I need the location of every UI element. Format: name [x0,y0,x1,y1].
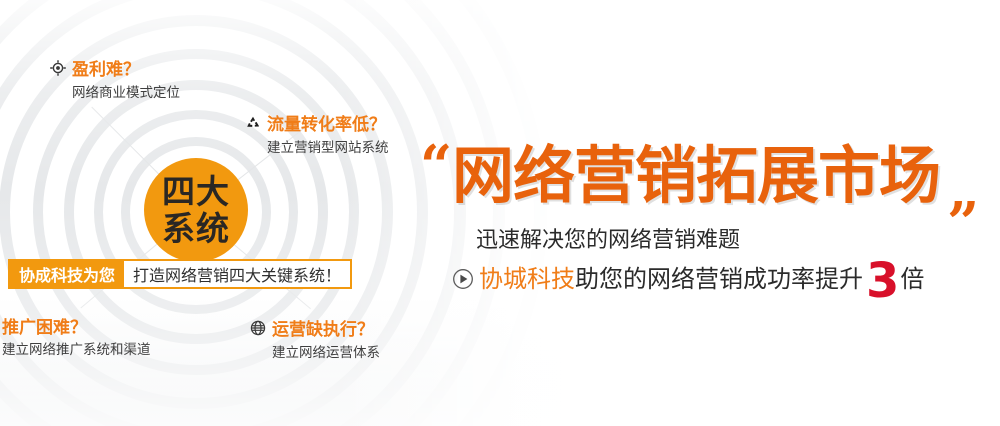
subheadline-line-2: 协城科技 助您的网络营销成功率提升 3 倍 [452,260,924,298]
feature-node-operation[interactable]: 运营缺执行？ 建立网络运营体系 [250,320,380,361]
feature-node-heading: 盈利难？ [50,60,180,80]
core-label-line2: 系统 [162,212,230,245]
feature-node-title: 运营缺执行？ [272,322,374,339]
globe-icon [250,320,266,340]
feature-node-desc: 建立网络运营体系 [272,347,380,361]
feature-node-promotion[interactable]: 推广困难？ 建立网络推广系统和渠道 [2,320,151,358]
feature-node-heading: 流量转化率低？ [245,115,389,135]
quote-close-mark: „ [948,163,980,219]
multiplier-unit: 倍 [900,267,924,291]
tagline-message: 打造网络营销四大关键系统！ [124,261,350,287]
target-icon [50,60,66,80]
marketing-banner: 四大 系统 盈利难？ 网络商业模式定位 [0,0,1000,426]
core-circle: 四大 系统 [144,158,248,262]
core-label-line1: 四大 [162,175,230,208]
quote-open-mark: “ [420,138,452,194]
feature-node-desc: 网络商业模式定位 [72,87,180,101]
tagline-brand-tag: 协成科技为您 [10,261,124,287]
feature-node-conversion[interactable]: 流量转化率低？ 建立营销型网站系统 [245,115,389,156]
play-circle-icon [452,268,474,290]
brand-name: 协城科技 [479,267,575,291]
feature-node-desc: 建立营销型网站系统 [267,142,389,156]
feature-node-profit[interactable]: 盈利难？ 网络商业模式定位 [50,60,180,101]
tagline-strip: 协成科技为您 打造网络营销四大关键系统！ [8,259,352,289]
feature-node-heading: 推广困难？ [2,320,151,337]
headline-text: 网络营销拓展市场 [452,145,940,207]
feature-node-title: 盈利难？ [72,62,140,79]
feature-node-title: 流量转化率低？ [267,117,386,134]
feature-node-desc: 建立网络推广系统和渠道 [2,344,151,358]
subheadline-mid-text: 助您的网络营销成功率提升 [575,267,863,291]
background-right-fade [330,0,1000,426]
subheadline-line-1: 迅速解决您的网络营销难题 [476,230,740,252]
feature-node-heading: 运营缺执行？ [250,320,380,340]
feature-node-title: 推广困难？ [2,320,87,337]
multiplier-number: 3 [866,262,899,300]
recycle-icon [245,115,261,135]
